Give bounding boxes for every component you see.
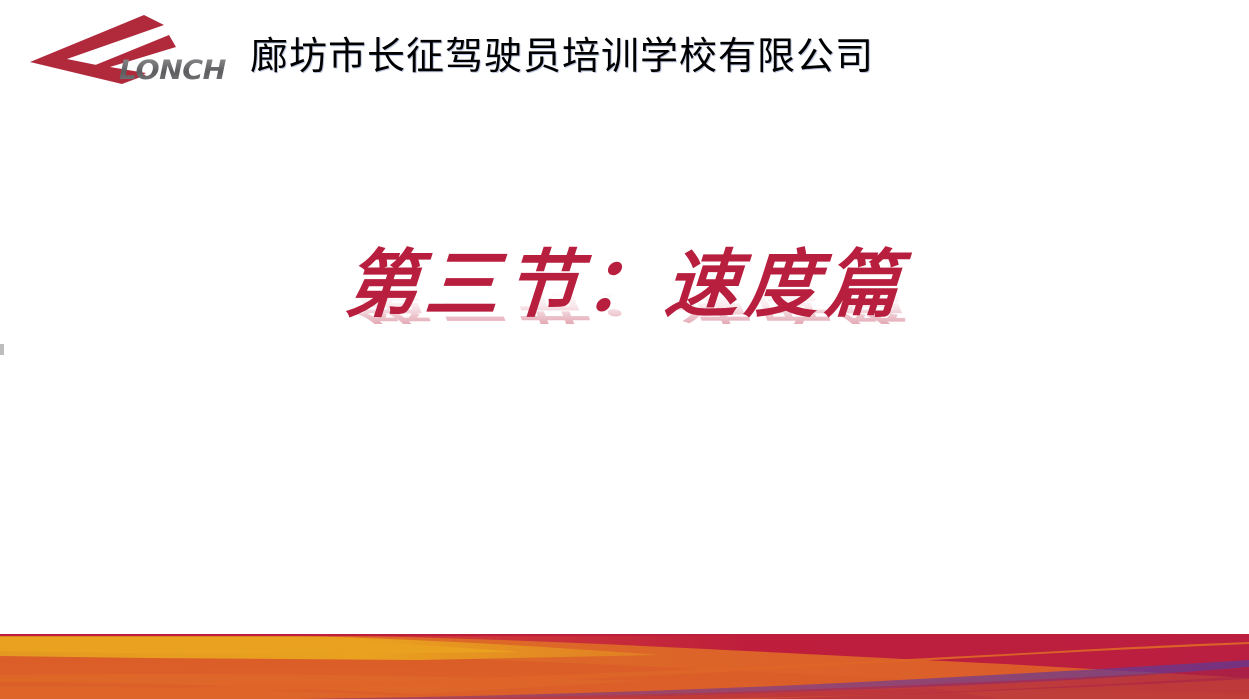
slide-header: LONCH 廊坊市长征驾驶员培训学校有限公司 [0,0,1249,104]
lonch-wordmark: LONCH [119,57,226,84]
organization-name: 廊坊市长征驾驶员培训学校有限公司 [250,25,874,80]
left-edge-marker [0,344,4,355]
decorative-wave-banner [0,634,1249,699]
slide-canvas: LONCH 廊坊市长征驾驶员培训学校有限公司 第三节：速度篇 第三节：速度篇 [0,0,1249,699]
page-title: 第三节：速度篇 [342,248,907,322]
page-title-reflection: 第三节：速度篇 [345,283,908,324]
company-logo: LONCH [26,13,226,91]
main-title-block: 第三节：速度篇 第三节：速度篇 [0,248,1249,398]
